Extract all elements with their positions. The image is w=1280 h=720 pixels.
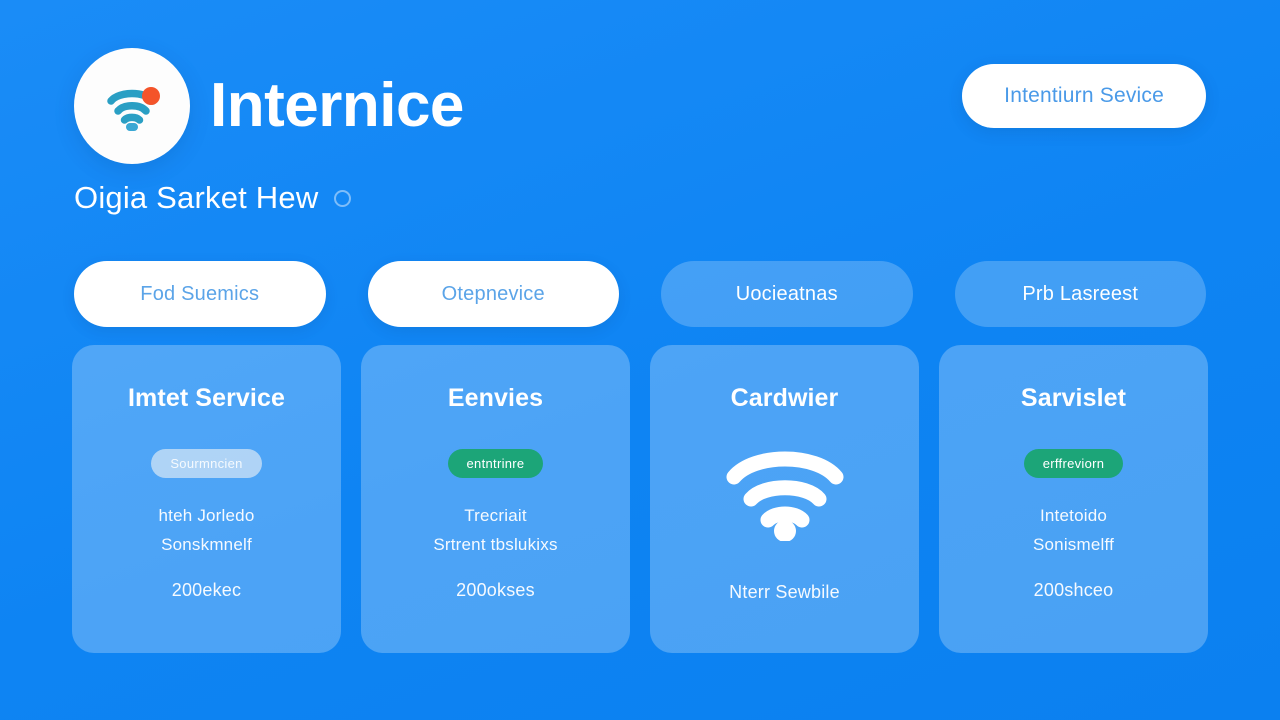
subtitle-row: Oigia Sarket Hew [74,180,351,216]
card-line: Srtrent tbslukixs [433,533,557,557]
wifi-badge-icon [97,71,167,141]
card-grid: Imtet Service Sourmncien hteh Jorledo So… [72,345,1208,653]
tab-otepnevice[interactable]: Otepnevice [368,261,620,327]
card-title: Cardwier [731,385,839,413]
card-title: Imtet Service [128,385,285,413]
card-line: Sonskmnelf [159,533,255,557]
tab-uocieatnas[interactable]: Uocieatnas [661,261,913,327]
header-service-button[interactable]: Intentiurn Sevice [962,64,1206,128]
card-footer: 200okses [456,580,535,623]
card-line: Intetoido [1033,504,1114,528]
card-footer: 200shceo [1034,580,1114,623]
service-card[interactable]: Imtet Service Sourmncien hteh Jorledo So… [72,345,341,653]
header: Internice Intentiurn Sevice [74,48,1206,168]
card-lines: Trecriait Srtrent tbslukixs [433,504,557,558]
service-card[interactable]: Eenvies entntrinre Trecriait Srtrent tbs… [361,345,630,653]
card-line: hteh Jorledo [159,504,255,528]
card-title: Eenvies [448,385,543,413]
card-footer: 200ekec [172,580,241,623]
app-logo [74,48,190,164]
status-badge: erffreviorn [1024,449,1124,478]
card-line: Trecriait [433,504,557,528]
service-card[interactable]: Cardwier Nterr Sewbile [650,345,919,653]
tab-bar: Fod Suemics Otepnevice Uocieatnas Prb La… [74,261,1206,327]
service-card[interactable]: Sarvislet erffreviorn Intetoido Sonismel… [939,345,1208,653]
tab-prb-lasreest[interactable]: Prb Lasreest [955,261,1207,327]
card-footer: Nterr Sewbile [729,582,840,623]
card-line: Sonismelff [1033,533,1114,557]
wifi-icon [724,441,846,541]
card-title: Sarvislet [1021,385,1126,413]
status-badge: Sourmncien [151,449,261,478]
circle-outline-icon [334,190,351,207]
card-lines: Intetoido Sonismelff [1033,504,1114,558]
card-lines: hteh Jorledo Sonskmnelf [159,504,255,558]
tab-fod-suemics[interactable]: Fod Suemics [74,261,326,327]
status-badge: entntrinre [448,449,544,478]
brand-name: Internice [210,75,464,137]
app-root: Internice Intentiurn Sevice Oigia Sarket… [0,0,1280,720]
page-subtitle: Oigia Sarket Hew [74,180,318,216]
